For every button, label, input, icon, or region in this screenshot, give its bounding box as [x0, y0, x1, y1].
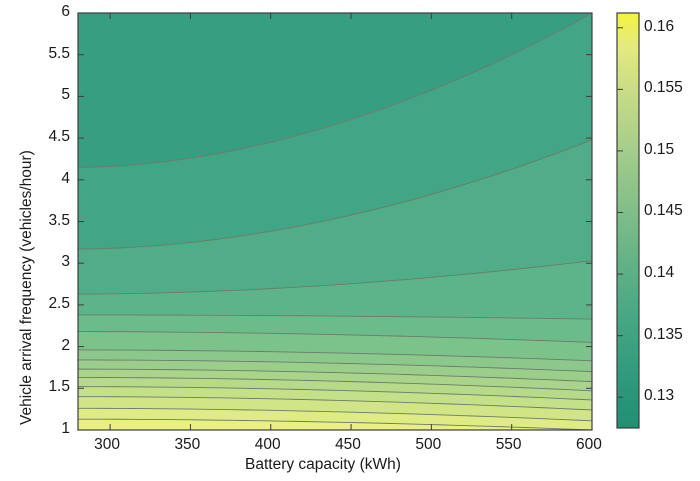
x-tick-label: 500 — [415, 436, 441, 454]
figure-root: Vehicle arrival frequency (vehicles/hour… — [0, 0, 700, 481]
y-tick-label: 1 — [0, 420, 70, 438]
y-tick-label: 2 — [0, 337, 70, 355]
colorbar-tick-label: 0.15 — [644, 141, 674, 159]
y-tick-label: 5 — [0, 86, 70, 104]
x-tick-label: 350 — [174, 436, 200, 454]
contour-bands — [78, 13, 592, 430]
colorbar-tick-label: 0.135 — [644, 326, 683, 344]
y-tick-label: 5.5 — [0, 45, 70, 63]
y-tick-label: 3 — [0, 253, 70, 271]
x-tick-label: 450 — [335, 436, 361, 454]
colorbar-tick-label: 0.155 — [644, 79, 683, 97]
x-tick-label: 600 — [576, 436, 602, 454]
y-tick-label: 4 — [0, 170, 70, 188]
y-tick-label: 3.5 — [0, 212, 70, 230]
colorbar-tick-label: 0.14 — [644, 264, 674, 282]
y-tick-label: 2.5 — [0, 295, 70, 313]
y-tick-label: 1.5 — [0, 378, 70, 396]
colorbar-tick-label: 0.16 — [644, 18, 674, 36]
y-tick-label: 6 — [0, 3, 70, 21]
colorbar-tick-label: 0.145 — [644, 202, 683, 220]
colorbar-tick-label: 0.13 — [644, 387, 674, 405]
x-tick-label: 300 — [94, 436, 120, 454]
contour-plot[interactable] — [0, 0, 700, 481]
x-tick-label: 550 — [496, 436, 522, 454]
colorbar[interactable] — [617, 13, 639, 428]
x-tick-label: 400 — [255, 436, 281, 454]
y-tick-label: 4.5 — [0, 128, 70, 146]
